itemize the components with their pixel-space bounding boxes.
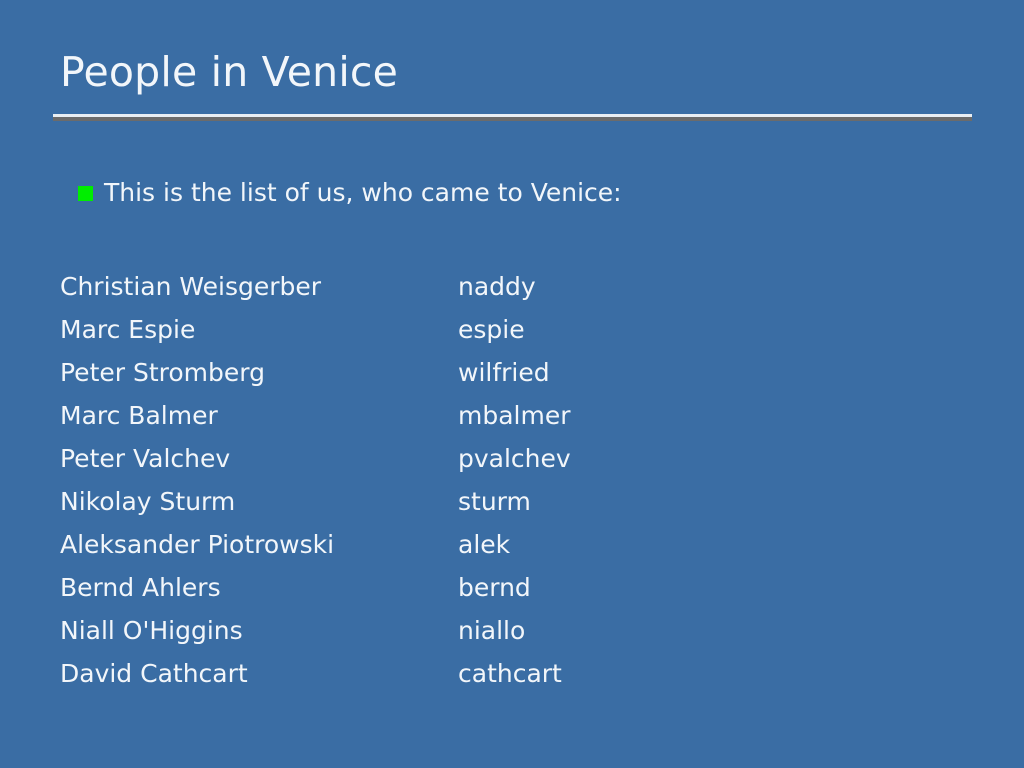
person-username: niallo [458,609,860,652]
table-row: David Cathcart cathcart [60,652,860,695]
person-username: bernd [458,566,860,609]
person-username: pvalchev [458,437,860,480]
person-full-name: Marc Balmer [60,394,458,437]
table-row: Christian Weisgerber naddy [60,265,860,308]
table-row: Aleksander Piotrowski alek [60,523,860,566]
bullet-item-label: This is the list of us, who came to Veni… [104,176,622,210]
presentation-slide: People in Venice This is the list of us,… [0,0,1024,768]
person-full-name: Bernd Ahlers [60,566,458,609]
person-full-name: Peter Valchev [60,437,458,480]
table-row: Bernd Ahlers bernd [60,566,860,609]
person-username: naddy [458,265,860,308]
table-row: Marc Espie espie [60,308,860,351]
table-row: Nikolay Sturm sturm [60,480,860,523]
person-full-name: Christian Weisgerber [60,265,458,308]
table-row: Marc Balmer mbalmer [60,394,860,437]
person-full-name: Aleksander Piotrowski [60,523,458,566]
person-username: sturm [458,480,860,523]
table-row: Peter Stromberg wilfried [60,351,860,394]
table-row: Niall O'Higgins niallo [60,609,860,652]
person-username: espie [458,308,860,351]
person-full-name: David Cathcart [60,652,458,695]
title-underline-shadow [53,117,972,121]
person-full-name: Niall O'Higgins [60,609,458,652]
person-username: alek [458,523,860,566]
green-square-bullet-icon [78,186,93,201]
person-full-name: Nikolay Sturm [60,480,458,523]
slide-title: People in Venice [60,48,972,96]
slide-title-block: People in Venice [60,48,972,96]
bullet-list-item: This is the list of us, who came to Veni… [78,176,622,210]
person-full-name: Peter Stromberg [60,351,458,394]
people-list-table: Christian Weisgerber naddy Marc Espie es… [60,265,860,695]
person-full-name: Marc Espie [60,308,458,351]
person-username: mbalmer [458,394,860,437]
person-username: wilfried [458,351,860,394]
table-row: Peter Valchev pvalchev [60,437,860,480]
person-username: cathcart [458,652,860,695]
people-list-body: Christian Weisgerber naddy Marc Espie es… [60,265,860,695]
